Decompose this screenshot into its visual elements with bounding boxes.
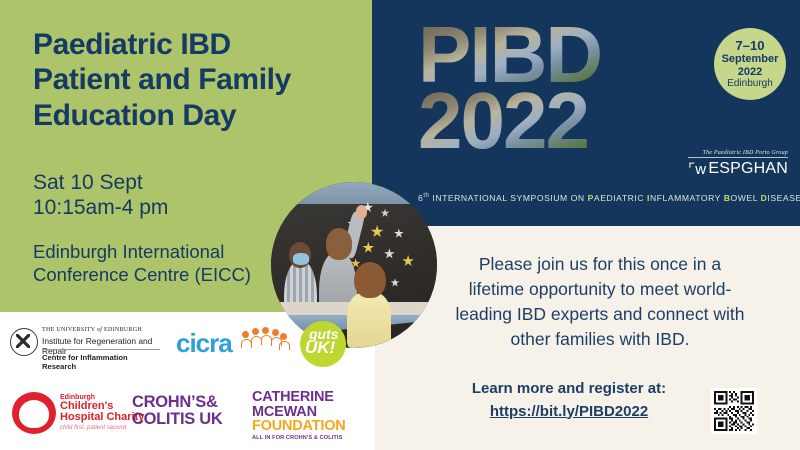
badge-year: 2022 (738, 66, 762, 78)
symposium-highlight-b: B (724, 193, 731, 203)
date-badge: 7–10 September 2022 Edinburgh (714, 28, 786, 100)
cmf-line-1: CATHERINE (252, 390, 357, 405)
symposium-part-4: OWEL (731, 193, 761, 203)
echc-family-icon (12, 392, 56, 434)
registration-link[interactable]: https://bit.ly/PIBD2022 (424, 401, 714, 424)
invitation-message: Please join us for this once in a lifeti… (424, 252, 776, 351)
catherine-mcewan-foundation-logo: CATHERINE MCEWAN FOUNDATION ALL IN FOR C… (252, 390, 357, 441)
event-headline: Paediatric IBD Patient and Family Educat… (33, 27, 363, 133)
sponsor-logos: THE UNIVERSITY of EDINBURGH Institute fo… (0, 312, 372, 450)
guts-uk-line-2: UK! (305, 339, 335, 356)
photo-person-child-grey-head (326, 228, 353, 260)
cmf-line-3: FOUNDATION (252, 419, 357, 434)
cmf-line-2: MCEWAN (252, 405, 357, 420)
headline-line-2: Patient and Family (33, 62, 363, 97)
qr-code-icon[interactable] (711, 388, 757, 434)
symposium-part-3: NFLAMMATORY (650, 193, 724, 203)
registration-cta: Learn more and register at: https://bit.… (424, 378, 714, 423)
edinburgh-crest-icon (10, 328, 38, 356)
cicra-people-icon (240, 330, 288, 352)
espghan-mark-icon: ⌜w (688, 160, 706, 178)
uoe-line-1: THE UNIVERSITY of EDINBURGH (42, 327, 142, 333)
qr-code-svg (714, 391, 754, 431)
pibd-logo: PIBD 2022 (418, 22, 718, 182)
message-line-4: other families with IBD. (424, 327, 776, 352)
message-line-2: lifetime opportunity to meet world- (424, 277, 776, 302)
photo-upper-wall (271, 182, 437, 204)
message-line-3: leading IBD experts and connect with (424, 302, 776, 327)
photo-person-child-yellow-head (354, 262, 386, 299)
photo-person-hand (356, 205, 368, 218)
symposium-part-5: ISEASE (767, 193, 800, 203)
symposium-part-2: AEDIATRIC (594, 193, 647, 203)
cicra-logo: cicra (176, 330, 286, 356)
face-mask-icon (293, 253, 310, 265)
uoe-divider (42, 349, 160, 350)
echc-tagline: child first, patient second. (60, 425, 128, 431)
espghan-porto-group-label: The Paediatric IBD Porto Group (688, 150, 788, 158)
ccuk-line-1: CROHN’S& (132, 394, 242, 411)
pibd-logo-line-2: 2022 (418, 88, 718, 154)
message-line-1: Please join us for this once in a (424, 252, 776, 277)
ccuk-line-2: COLITIS UK (132, 411, 242, 428)
cta-label: Learn more and register at: (424, 378, 714, 401)
espghan-logo: The Paediatric IBD Porto Group ⌜w ESPGHA… (688, 150, 788, 178)
espghan-wordmark: ⌜w ESPGHAN (688, 160, 788, 178)
headline-line-3: Education Day (33, 98, 363, 133)
crohns-and-colitis-uk-logo: CROHN’S& COLITIS UK (132, 394, 242, 429)
edinburgh-childrens-hospital-charity-logo: Edinburgh Children'sHospital Charity chi… (12, 390, 152, 436)
cmf-line-4: ALL IN FOR CROHN'S & COLITIS (252, 435, 357, 441)
espghan-name: ESPGHAN (708, 160, 788, 178)
headline-line-1: Paediatric IBD (33, 27, 363, 62)
guts-uk-logo: guts UK! (300, 321, 346, 367)
symposium-part-1: INTERNATIONAL SYMPOSIUM ON (429, 193, 587, 203)
badge-city: Edinburgh (727, 78, 773, 89)
uoe-line-3: Centre for Inflammation Research (42, 353, 162, 371)
badge-month: September (722, 53, 779, 65)
poster-root: Paediatric IBD Patient and Family Educat… (0, 0, 800, 450)
badge-dates: 7–10 (736, 39, 765, 54)
symposium-subtitle: 6th INTERNATIONAL SYMPOSIUM ON PAEDIATRI… (418, 193, 788, 203)
